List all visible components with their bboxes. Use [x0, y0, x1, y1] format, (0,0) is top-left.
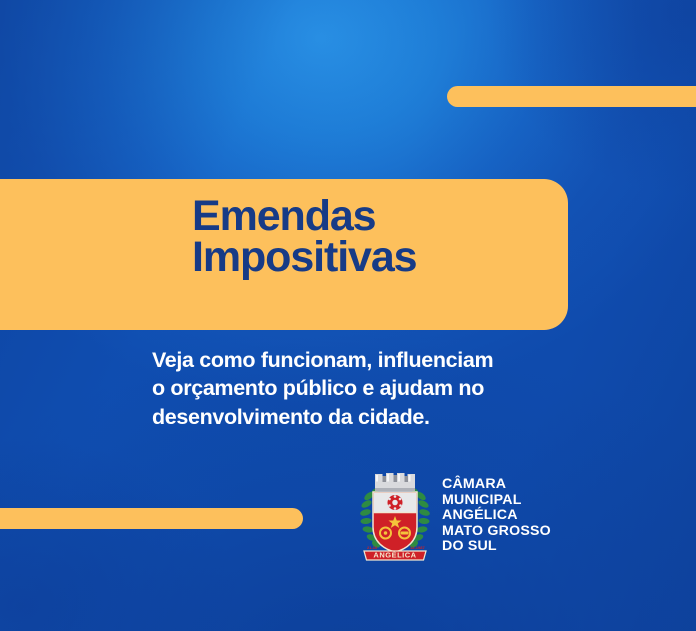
page-title: Emendas Impositivas [192, 196, 612, 279]
yellow-pill-bar-top-right [447, 86, 696, 107]
yellow-pill-bar-bottom-left [0, 508, 303, 529]
institution-logo-lockup: ANGÉLICA 21-10 12-1987 CÂMARA MUNICIPAL … [358, 466, 551, 566]
poster-canvas: Emendas Impositivas Veja como funcionam,… [0, 0, 696, 631]
institution-name: CÂMARA MUNICIPAL ANGÉLICA MATO GROSSO DO… [442, 477, 551, 555]
coat-of-arms-icon: ANGÉLICA 21-10 12-1987 [358, 466, 432, 566]
crest-banner: ANGÉLICA [364, 551, 426, 561]
mural-crown [375, 473, 415, 491]
page-subtitle: Veja como funcionam, influenciam o orçam… [152, 346, 582, 431]
svg-text:ANGÉLICA: ANGÉLICA [373, 551, 416, 560]
svg-text:21-10: 21-10 [367, 545, 378, 550]
crest-chief-charge [388, 495, 403, 510]
svg-text:12-1987: 12-1987 [410, 545, 425, 550]
